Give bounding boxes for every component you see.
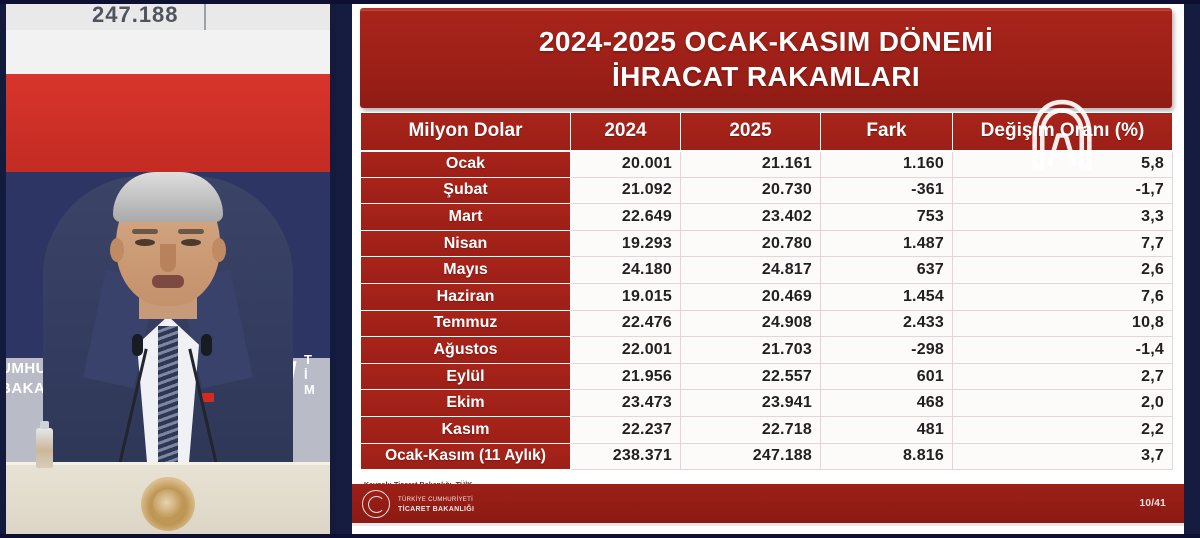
table-row: Şubat 21.092 20.730 -361 -1,7 <box>361 177 1173 204</box>
cell-fark: 601 <box>821 363 953 390</box>
cell-2025: 24.817 <box>681 257 821 284</box>
flag-pin-icon <box>202 393 214 402</box>
slide-title-line-2: İHRACAT RAKAMLARI <box>612 59 920 94</box>
slide-page: 2024-2025 OCAK-KASIM DÖNEMİ İHRACAT RAKA… <box>352 4 1184 534</box>
backdrop-red-band <box>6 74 330 172</box>
row-label: Kasım <box>361 416 571 443</box>
speaker-brow-right <box>178 229 204 234</box>
cell-degisim: 10,8 <box>953 310 1173 337</box>
table-row: Eylül 21.956 22.557 601 2,7 <box>361 363 1173 390</box>
slide-title-banner: 2024-2025 OCAK-KASIM DÖNEMİ İHRACAT RAKA… <box>360 8 1172 108</box>
cell-2024: 22.237 <box>571 416 681 443</box>
video-panel[interactable]: 247.188 UMHURİYETİ BAKAN TİM T İ M <box>0 0 336 538</box>
cell-fark: -361 <box>821 177 953 204</box>
table-row: Temmuz 22.476 24.908 2.433 10,8 <box>361 310 1173 337</box>
cell-fark: 753 <box>821 204 953 231</box>
cell-total-fark: 8.816 <box>821 443 953 470</box>
table-row: Mayıs 24.180 24.817 637 2,6 <box>361 257 1173 284</box>
cell-fark: 1.454 <box>821 283 953 310</box>
water-bottle <box>36 428 53 468</box>
cell-degisim: -1,7 <box>953 177 1173 204</box>
ministry-logo-text: TÜRKİYE CUMHURİYETİ TİCARET BAKANLIĞI <box>398 496 474 514</box>
speaker-tie <box>158 326 178 476</box>
cell-fark: 468 <box>821 390 953 417</box>
cell-fark: 1.160 <box>821 151 953 178</box>
cell-2024: 19.015 <box>571 283 681 310</box>
backdrop-screen-divider <box>204 4 206 30</box>
tim-sub-line2: İ <box>304 367 315 382</box>
table-row: Kasım 22.237 22.718 481 2,2 <box>361 416 1173 443</box>
backdrop-screen-number: 247.188 <box>92 4 179 28</box>
col-header-2025: 2025 <box>681 113 821 151</box>
video-frame: 247.188 UMHURİYETİ BAKAN TİM T İ M <box>6 4 330 534</box>
cell-fark: 637 <box>821 257 953 284</box>
cell-degisim: -1,4 <box>953 337 1173 364</box>
speaker-ear-left <box>110 238 124 262</box>
cell-2025: 22.557 <box>681 363 821 390</box>
row-label: Ağustos <box>361 337 571 364</box>
row-label: Şubat <box>361 177 571 204</box>
cell-degisim: 7,7 <box>953 230 1173 257</box>
row-label-total: Ocak-Kasım (11 Aylık) <box>361 443 571 470</box>
cell-2025: 24.908 <box>681 310 821 337</box>
microphone-head-right <box>201 334 212 356</box>
row-label: Ocak <box>361 151 571 178</box>
cell-2024: 21.092 <box>571 177 681 204</box>
row-label: Eylül <box>361 363 571 390</box>
row-label: Mayıs <box>361 257 571 284</box>
cell-2025: 20.469 <box>681 283 821 310</box>
cell-2025: 20.730 <box>681 177 821 204</box>
speaker-brow-left <box>132 229 158 234</box>
cell-fark: -298 <box>821 337 953 364</box>
slide-page-number: 10/41 <box>1139 498 1166 509</box>
cell-2025: 20.780 <box>681 230 821 257</box>
state-emblem-icon <box>141 477 195 531</box>
tim-sub-line1: T <box>304 352 315 367</box>
aa-watermark-icon <box>1024 96 1100 172</box>
cell-2025: 21.703 <box>681 337 821 364</box>
cell-degisim: 2,6 <box>953 257 1173 284</box>
cell-2024: 24.180 <box>571 257 681 284</box>
ministry-logo-line-1: TÜRKİYE CUMHURİYETİ <box>398 496 474 505</box>
speaker-eye-right <box>181 239 201 246</box>
row-label: Temmuz <box>361 310 571 337</box>
speaker-nose <box>160 244 176 272</box>
cell-2025: 23.402 <box>681 204 821 231</box>
cell-degisim: 2,7 <box>953 363 1173 390</box>
cell-degisim: 3,3 <box>953 204 1173 231</box>
window-frame-bottom <box>0 534 1200 538</box>
podium <box>6 462 330 534</box>
slide-title-line-1: 2024-2025 OCAK-KASIM DÖNEMİ <box>539 24 993 59</box>
cell-fark: 481 <box>821 416 953 443</box>
row-label: Haziran <box>361 283 571 310</box>
table-row: Mart 22.649 23.402 753 3,3 <box>361 204 1173 231</box>
window-frame-right <box>1185 0 1200 538</box>
col-header-2024: 2024 <box>571 113 681 151</box>
cell-total-2024: 238.371 <box>571 443 681 470</box>
table-row: Nisan 19.293 20.780 1.487 7,7 <box>361 230 1173 257</box>
cell-2024: 22.476 <box>571 310 681 337</box>
cell-2024: 21.956 <box>571 363 681 390</box>
cell-fark: 1.487 <box>821 230 953 257</box>
backdrop-tim-sub: T İ M <box>304 352 315 397</box>
row-label: Mart <box>361 204 571 231</box>
speaker-eye-left <box>135 239 155 246</box>
presentation-slide-panel: 2024-2025 OCAK-KASIM DÖNEMİ İHRACAT RAKA… <box>336 0 1200 538</box>
cell-2025: 22.718 <box>681 416 821 443</box>
cell-2025: 21.161 <box>681 151 821 178</box>
cell-2024: 22.649 <box>571 204 681 231</box>
table-row: Ağustos 22.001 21.703 -298 -1,4 <box>361 337 1173 364</box>
cell-total-2025: 247.188 <box>681 443 821 470</box>
cell-2024: 22.001 <box>571 337 681 364</box>
cell-fark: 2.433 <box>821 310 953 337</box>
col-header-fark: Fark <box>821 113 953 151</box>
slide-footer-bar: TÜRKİYE CUMHURİYETİ TİCARET BAKANLIĞI 10… <box>352 484 1184 526</box>
table-row: Ekim 23.473 23.941 468 2,0 <box>361 390 1173 417</box>
cell-2024: 20.001 <box>571 151 681 178</box>
microphone-head-left <box>132 334 143 356</box>
cell-total-degisim: 3,7 <box>953 443 1173 470</box>
table-total-row: Ocak-Kasım (11 Aylık) 238.371 247.188 8.… <box>361 443 1173 470</box>
ministry-logo-icon <box>362 490 390 518</box>
table-row: Haziran 19.015 20.469 1.454 7,6 <box>361 283 1173 310</box>
cell-2024: 23.473 <box>571 390 681 417</box>
cell-2025: 23.941 <box>681 390 821 417</box>
window-frame-top <box>0 0 1200 4</box>
cell-degisim: 7,6 <box>953 283 1173 310</box>
screen-root: 247.188 UMHURİYETİ BAKAN TİM T İ M <box>0 0 1200 538</box>
col-header-milyon-dolar: Milyon Dolar <box>361 113 571 151</box>
speaker-mouth <box>152 275 184 288</box>
row-label: Ekim <box>361 390 571 417</box>
cell-2024: 19.293 <box>571 230 681 257</box>
cell-degisim: 2,0 <box>953 390 1173 417</box>
ministry-logo-line-2: TİCARET BAKANLIĞI <box>398 505 474 514</box>
row-label: Nisan <box>361 230 571 257</box>
tim-sub-line3: M <box>304 382 315 397</box>
backdrop-white-band <box>6 30 330 74</box>
cell-degisim: 2,2 <box>953 416 1173 443</box>
speaker-ear-right <box>212 238 226 262</box>
